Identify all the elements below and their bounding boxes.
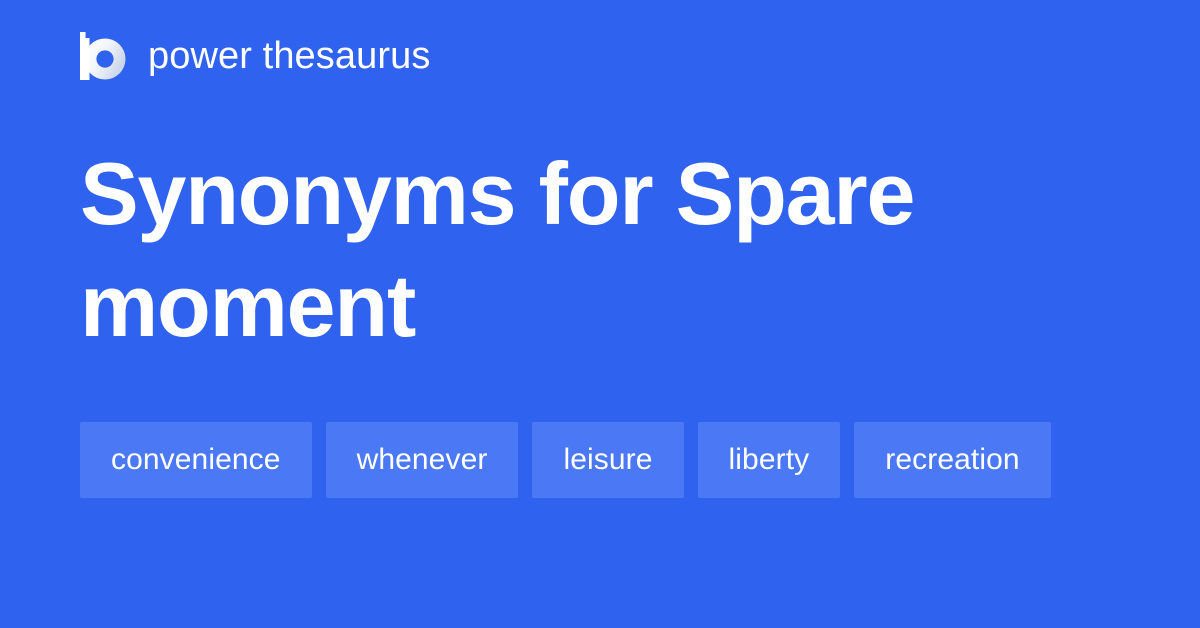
synonym-chip[interactable]: leisure [532,422,683,498]
synonym-chip[interactable]: recreation [854,422,1050,498]
page-title: Synonyms for Spare moment [80,138,1080,362]
page-title-line-2: moment [80,250,1080,362]
synonym-chip[interactable]: convenience [80,422,312,498]
brand-name: power thesaurus [148,37,430,75]
synonym-chip[interactable]: liberty [698,422,841,498]
brand-header[interactable]: power thesaurus [80,30,430,82]
synonym-chip-list: convenience whenever leisure liberty rec… [80,422,1120,498]
page-title-line-1: Synonyms for Spare [80,138,1080,250]
share-card: power thesaurus Synonyms for Spare momen… [0,0,1200,628]
power-thesaurus-b-logo-icon [80,32,126,80]
synonym-chip[interactable]: whenever [326,422,519,498]
